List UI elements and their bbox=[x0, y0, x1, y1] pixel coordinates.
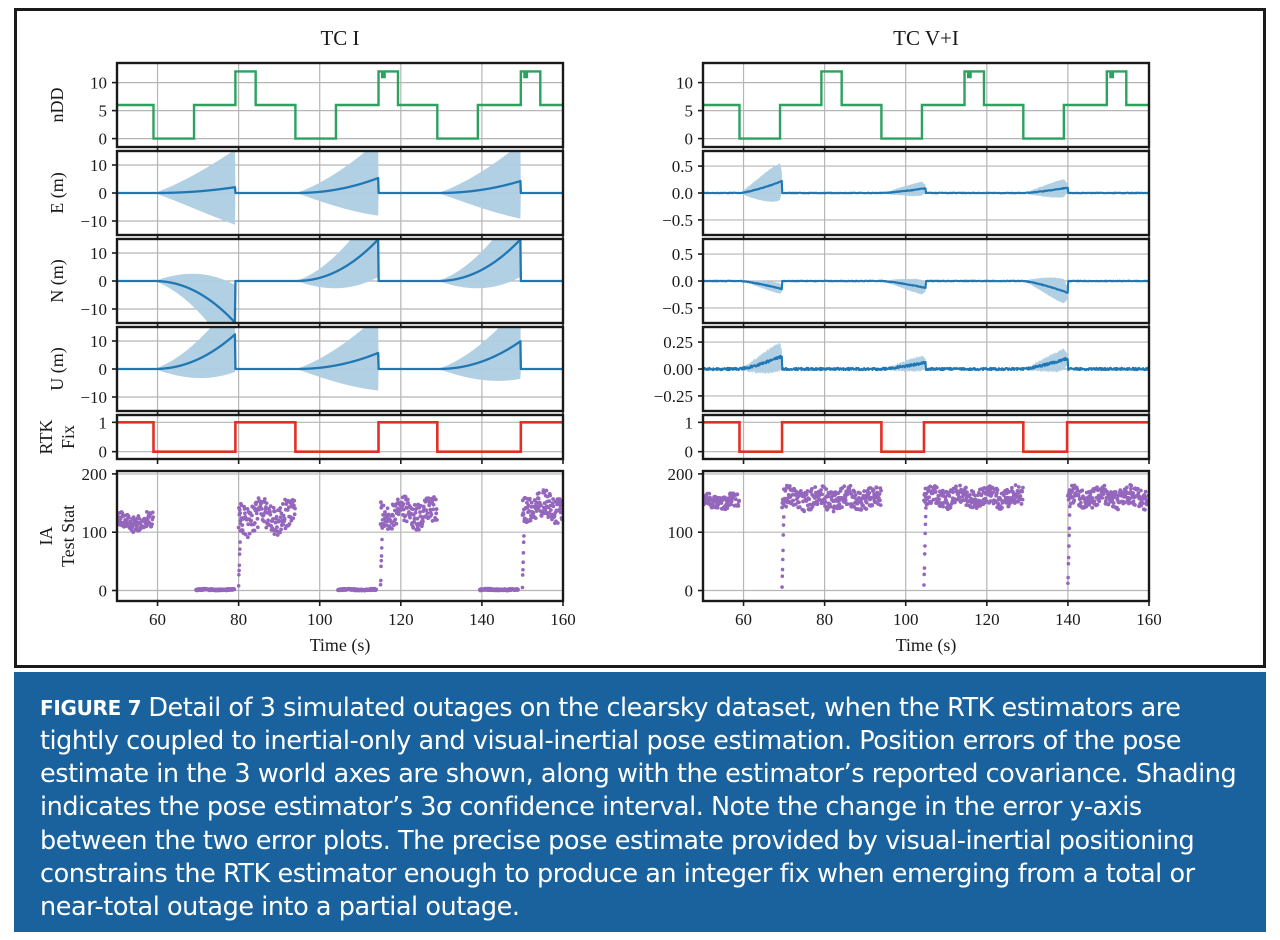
y-tick-label: 0.00 bbox=[663, 360, 693, 379]
scatter-point bbox=[411, 507, 415, 511]
confidence-band-3sigma bbox=[117, 140, 563, 224]
scatter-point bbox=[379, 559, 383, 563]
y-tick-label: 10 bbox=[90, 156, 107, 175]
scatter-point bbox=[396, 498, 400, 502]
scatter-point bbox=[246, 522, 250, 526]
scatter-point bbox=[380, 554, 384, 558]
panel-rtk-tc_i: 01RTKFix bbox=[36, 413, 563, 464]
scatter-point bbox=[558, 507, 562, 511]
scatter-point bbox=[522, 551, 526, 555]
scatter-point bbox=[253, 529, 257, 533]
scatter-point bbox=[275, 515, 279, 519]
panel-content bbox=[701, 483, 1150, 589]
scatter-point bbox=[523, 517, 527, 521]
y-axis-label-line: Test Stat bbox=[58, 505, 78, 567]
scatter-point bbox=[379, 500, 383, 504]
scatter-point bbox=[1010, 486, 1014, 490]
y-tick-label: 1 bbox=[685, 413, 694, 432]
panel-ia-tc_i: 01002006080100120140160Time (s)IATest St… bbox=[36, 465, 576, 656]
scatter-point bbox=[923, 566, 927, 570]
x-tick-label: 160 bbox=[550, 610, 576, 629]
scatter-point bbox=[516, 588, 520, 592]
scatter-point bbox=[272, 506, 276, 510]
y-tick-label: 0 bbox=[99, 360, 108, 379]
y-tick-label: 0 bbox=[99, 184, 108, 203]
scatter-point bbox=[924, 487, 928, 491]
x-tick-label: 120 bbox=[974, 610, 1000, 629]
scatter-point bbox=[735, 492, 739, 496]
scatter-point bbox=[924, 506, 928, 510]
scatter-point bbox=[872, 488, 876, 492]
scatter-point bbox=[1133, 503, 1137, 507]
y-tick-label: −0.25 bbox=[654, 387, 693, 406]
scatter-point bbox=[419, 515, 423, 519]
panel-content bbox=[117, 422, 563, 451]
scatter-point bbox=[265, 501, 269, 505]
y-tick-label: −10 bbox=[80, 388, 107, 407]
scatter-point bbox=[815, 502, 819, 506]
scatter-point bbox=[865, 501, 869, 505]
scatter-point bbox=[782, 523, 786, 527]
scatter-point bbox=[380, 526, 384, 530]
y-tick-label: 0.0 bbox=[672, 272, 693, 291]
scatter-point bbox=[238, 540, 242, 544]
scatter-point bbox=[1067, 544, 1071, 548]
scatter-point bbox=[386, 506, 390, 510]
y-tick-label: 200 bbox=[668, 465, 694, 484]
scatter-point bbox=[288, 522, 292, 526]
scatter-point bbox=[534, 516, 538, 520]
panel-content bbox=[703, 71, 1149, 138]
y-axis-label: nDD bbox=[47, 88, 67, 123]
scatter-point bbox=[418, 510, 422, 514]
scatter-point bbox=[238, 508, 242, 512]
scatter-point bbox=[805, 492, 809, 496]
y-axis-label: E (m) bbox=[47, 172, 68, 213]
figure-caption-band: FIGURE 7Detail of 3 simulated outages on… bbox=[14, 672, 1266, 932]
scatter-point bbox=[954, 485, 958, 489]
scatter-point bbox=[1129, 484, 1133, 488]
panel-ndd-tc_vi: 0510 bbox=[676, 63, 1149, 152]
y-axis-label-line: nDD bbox=[47, 88, 67, 123]
scatter-point bbox=[951, 490, 955, 494]
scatter-point bbox=[250, 514, 254, 518]
x-tick-label: 120 bbox=[388, 610, 414, 629]
scatter-point bbox=[1093, 499, 1097, 503]
confidence-band-3sigma bbox=[703, 163, 1149, 202]
figure-caption-text: Detail of 3 simulated outages on the cle… bbox=[40, 693, 1236, 922]
scatter-point bbox=[922, 573, 926, 577]
scatter-point bbox=[529, 519, 533, 523]
scatter-point bbox=[1090, 506, 1094, 510]
scatter-point bbox=[781, 549, 785, 553]
scatter-point bbox=[1000, 506, 1004, 510]
y-axis-label-line: RTK bbox=[36, 420, 56, 455]
scatter-point bbox=[1021, 486, 1025, 490]
scatter-point bbox=[430, 513, 434, 517]
y-tick-label: 5 bbox=[685, 102, 694, 121]
y-tick-label: 100 bbox=[82, 523, 108, 542]
scatter-point bbox=[807, 497, 811, 501]
scatter-point bbox=[989, 499, 993, 503]
scatter-point bbox=[958, 484, 962, 488]
confidence-band-3sigma bbox=[117, 297, 563, 391]
scatter-point bbox=[879, 503, 883, 507]
scatter-point bbox=[379, 565, 383, 569]
ia-scatter-points bbox=[115, 488, 564, 592]
scatter-point bbox=[381, 518, 385, 522]
scatter-point bbox=[416, 517, 420, 521]
scatter-point bbox=[272, 532, 276, 536]
scatter-point bbox=[1080, 489, 1084, 493]
scatter-point bbox=[249, 519, 253, 523]
figure-number-label: FIGURE 7 bbox=[40, 696, 141, 720]
scatter-point bbox=[737, 499, 741, 503]
panel-content bbox=[117, 140, 563, 224]
scatter-point bbox=[239, 522, 243, 526]
multi-panel-plot: TC ITC V+I0510nDD0510−10010E (m)−0.50.00… bbox=[17, 11, 1263, 665]
scatter-point bbox=[379, 583, 383, 587]
scatter-point bbox=[380, 538, 384, 542]
scatter-point bbox=[238, 511, 242, 515]
scatter-point bbox=[810, 487, 814, 491]
y-tick-label: −0.5 bbox=[662, 299, 693, 318]
scatter-point bbox=[548, 494, 552, 498]
scatter-point bbox=[539, 503, 543, 507]
scatter-point bbox=[237, 584, 241, 588]
scatter-point bbox=[127, 516, 131, 520]
y-tick-label: 0 bbox=[99, 443, 108, 462]
scatter-point bbox=[283, 517, 287, 521]
scatter-point bbox=[1079, 501, 1083, 505]
scatter-point bbox=[238, 552, 242, 556]
scatter-point bbox=[1144, 490, 1148, 494]
scatter-point bbox=[878, 498, 882, 502]
scatter-point bbox=[707, 492, 711, 496]
scatter-point bbox=[1068, 505, 1072, 509]
scatter-point bbox=[435, 518, 439, 522]
scatter-point bbox=[996, 488, 1000, 492]
scatter-point bbox=[1112, 501, 1116, 505]
scatter-point bbox=[781, 574, 785, 578]
scatter-point bbox=[1014, 483, 1018, 487]
panel-u-tc_i: −10010U (m) bbox=[47, 297, 563, 416]
scatter-point bbox=[824, 487, 828, 491]
panel-u-tc_vi: −0.250.000.25 bbox=[654, 327, 1149, 416]
panel-rtk-tc_vi: 01 bbox=[685, 413, 1150, 464]
scatter-point bbox=[1066, 576, 1070, 580]
x-tick-label: 60 bbox=[149, 610, 166, 629]
scatter-point bbox=[238, 563, 242, 567]
panel-n-tc_vi: −0.50.00.5 bbox=[662, 239, 1149, 328]
y-tick-label: 10 bbox=[90, 332, 107, 351]
x-tick-label: 140 bbox=[469, 610, 495, 629]
x-tick-label: 140 bbox=[1055, 610, 1081, 629]
scatter-point bbox=[1018, 494, 1022, 498]
scatter-point bbox=[232, 587, 236, 591]
scatter-point bbox=[870, 504, 874, 508]
y-axis-label: N (m) bbox=[47, 259, 68, 303]
panel-content bbox=[703, 163, 1149, 202]
scatter-point bbox=[263, 497, 267, 501]
y-tick-label: −10 bbox=[80, 300, 107, 319]
scatter-point bbox=[1072, 498, 1076, 502]
scatter-point bbox=[253, 521, 257, 525]
scatter-point bbox=[278, 506, 282, 510]
y-tick-label: 10 bbox=[676, 74, 693, 93]
scatter-point bbox=[237, 569, 241, 573]
scatter-point bbox=[391, 514, 395, 518]
panel-ia-tc_vi: 01002006080100120140160Time (s) bbox=[668, 465, 1162, 656]
scatter-point bbox=[237, 573, 241, 577]
scatter-point bbox=[781, 533, 785, 537]
scatter-point bbox=[1067, 562, 1071, 566]
scatter-point bbox=[521, 586, 525, 590]
scatter-point bbox=[923, 532, 927, 536]
panel-content bbox=[703, 422, 1149, 451]
scatter-point bbox=[393, 517, 397, 521]
scatter-point bbox=[380, 546, 384, 550]
ndd-step-line bbox=[703, 71, 1149, 138]
scatter-point bbox=[522, 540, 526, 544]
y-axis-label: IATest Stat bbox=[36, 505, 78, 567]
y-tick-label: −0.5 bbox=[662, 211, 693, 230]
y-axis-label: U (m) bbox=[47, 347, 68, 391]
y-tick-label: −10 bbox=[80, 212, 107, 231]
scatter-point bbox=[406, 498, 410, 502]
y-tick-label: 1 bbox=[99, 413, 108, 432]
y-tick-label: 10 bbox=[90, 74, 107, 93]
scatter-point bbox=[947, 494, 951, 498]
scatter-point bbox=[782, 515, 786, 519]
scatter-point bbox=[922, 583, 926, 587]
scatter-point bbox=[791, 499, 795, 503]
scatter-point bbox=[151, 511, 155, 515]
scatter-point bbox=[521, 568, 525, 572]
scatter-point bbox=[246, 535, 250, 539]
x-tick-label: 160 bbox=[1136, 610, 1162, 629]
scatter-point bbox=[1020, 502, 1024, 506]
scatter-point bbox=[379, 579, 383, 583]
scatter-point bbox=[849, 484, 853, 488]
scatter-point bbox=[432, 503, 436, 507]
scatter-point bbox=[414, 511, 418, 515]
scatter-point bbox=[151, 515, 155, 519]
scatter-point bbox=[403, 514, 407, 518]
scatter-point bbox=[522, 534, 526, 538]
scatter-point bbox=[239, 529, 243, 533]
scatter-point bbox=[924, 523, 928, 527]
scatter-point bbox=[434, 498, 438, 502]
scatter-point bbox=[260, 507, 264, 511]
y-tick-label: 0 bbox=[99, 582, 108, 601]
scatter-point bbox=[1141, 501, 1145, 505]
y-tick-label: 0.25 bbox=[663, 333, 693, 352]
rtk-fix-step-line bbox=[117, 422, 563, 451]
scatter-point bbox=[1100, 496, 1104, 500]
scatter-point bbox=[854, 493, 858, 497]
scatter-point bbox=[537, 497, 541, 501]
scatter-point bbox=[784, 487, 788, 491]
panel-content bbox=[703, 277, 1149, 303]
x-tick-label: 100 bbox=[307, 610, 333, 629]
panel-e-tc_vi: −0.50.00.5 bbox=[662, 151, 1149, 240]
scatter-point bbox=[435, 507, 439, 511]
scatter-point bbox=[964, 486, 968, 490]
scatter-point bbox=[875, 486, 879, 490]
scatter-point bbox=[537, 491, 541, 495]
scatter-point bbox=[1066, 581, 1070, 585]
y-axis-label-line: N (m) bbox=[47, 259, 68, 303]
scatter-point bbox=[1131, 491, 1135, 495]
scatter-point bbox=[402, 502, 406, 506]
scatter-point bbox=[968, 493, 972, 497]
scatter-point bbox=[853, 490, 857, 494]
rtk-fix-step-line bbox=[703, 422, 1149, 451]
figure-page: TC ITC V+I0510nDD0510−10010E (m)−0.50.00… bbox=[0, 0, 1280, 940]
scatter-point bbox=[1068, 526, 1072, 530]
scatter-point bbox=[941, 505, 945, 509]
scatter-point bbox=[1096, 503, 1100, 507]
scatter-point bbox=[878, 492, 882, 496]
axes-frame bbox=[117, 471, 563, 601]
scatter-point bbox=[937, 497, 941, 501]
scatter-point bbox=[781, 568, 785, 572]
scatter-point bbox=[549, 508, 553, 512]
scatter-point bbox=[780, 585, 784, 589]
x-tick-label: 80 bbox=[816, 610, 833, 629]
scatter-point bbox=[281, 523, 285, 527]
panel-content bbox=[117, 71, 563, 138]
scatter-point bbox=[273, 509, 277, 513]
scatter-point bbox=[1125, 485, 1129, 489]
panel-n-tc_i: −10010N (m) bbox=[47, 202, 563, 360]
scatter-point bbox=[374, 588, 378, 592]
y-tick-label: 5 bbox=[99, 102, 108, 121]
scatter-point bbox=[255, 511, 259, 515]
scatter-point bbox=[395, 522, 399, 526]
x-tick-label: 80 bbox=[230, 610, 247, 629]
scatter-point bbox=[291, 516, 295, 520]
figure-plot-area: TC ITC V+I0510nDD0510−10010E (m)−0.50.00… bbox=[14, 8, 1266, 668]
scatter-point bbox=[431, 507, 435, 511]
scatter-point bbox=[390, 527, 394, 531]
scatter-point bbox=[813, 485, 817, 489]
y-tick-label: 0 bbox=[685, 130, 694, 149]
x-axis-label: Time (s) bbox=[896, 635, 957, 656]
scatter-point bbox=[802, 509, 806, 513]
scatter-point bbox=[292, 499, 296, 503]
panel-e-tc_i: −10010E (m) bbox=[47, 140, 563, 240]
panel-content bbox=[703, 343, 1149, 374]
scatter-point bbox=[275, 525, 279, 529]
scatter-point bbox=[547, 499, 551, 503]
scatter-point bbox=[281, 502, 285, 506]
scatter-point bbox=[736, 504, 740, 508]
scatter-point bbox=[405, 519, 409, 523]
scatter-point bbox=[1077, 494, 1081, 498]
panel-content bbox=[117, 297, 563, 391]
panel-title-tc_vi: TC V+I bbox=[893, 26, 959, 50]
y-tick-label: 10 bbox=[90, 244, 107, 263]
scatter-point bbox=[237, 526, 241, 530]
scatter-point bbox=[824, 500, 828, 504]
scatter-point bbox=[413, 503, 417, 507]
scatter-point bbox=[1097, 499, 1101, 503]
scatter-point bbox=[1091, 496, 1095, 500]
scatter-point bbox=[846, 502, 850, 506]
scatter-point bbox=[238, 547, 242, 551]
scatter-point bbox=[522, 513, 526, 517]
scatter-point bbox=[382, 504, 386, 508]
y-axis-label-line: Fix bbox=[58, 425, 78, 449]
scatter-point bbox=[832, 510, 836, 514]
scatter-point bbox=[532, 511, 536, 515]
scatter-point bbox=[819, 488, 823, 492]
x-tick-label: 100 bbox=[893, 610, 919, 629]
scatter-point bbox=[859, 508, 863, 512]
scatter-point bbox=[864, 507, 868, 511]
scatter-point bbox=[1143, 508, 1147, 512]
scatter-point bbox=[1103, 484, 1107, 488]
y-tick-label: 0 bbox=[99, 272, 108, 291]
scatter-point bbox=[965, 490, 969, 494]
scatter-point bbox=[1067, 556, 1071, 560]
scatter-point bbox=[552, 504, 556, 508]
y-axis-label-line: E (m) bbox=[47, 172, 68, 213]
scatter-point bbox=[545, 489, 549, 493]
y-tick-label: 0 bbox=[685, 443, 694, 462]
scatter-point bbox=[879, 489, 883, 493]
scatter-point bbox=[243, 511, 247, 515]
scatter-point bbox=[829, 505, 833, 509]
scatter-point bbox=[806, 489, 810, 493]
scatter-point bbox=[1116, 508, 1120, 512]
scatter-point bbox=[521, 573, 525, 577]
scatter-point bbox=[781, 558, 785, 562]
scatter-point bbox=[1020, 490, 1024, 494]
scatter-point bbox=[521, 560, 525, 564]
scatter-point bbox=[421, 520, 425, 524]
scatter-point bbox=[797, 500, 801, 504]
scatter-point bbox=[150, 522, 154, 526]
y-axis-label-line: IA bbox=[36, 527, 56, 546]
scatter-point bbox=[256, 517, 260, 521]
y-tick-label: 0.0 bbox=[672, 184, 693, 203]
scatter-point bbox=[556, 521, 560, 525]
y-axis-label-line: U (m) bbox=[47, 347, 68, 391]
ndd-step-line bbox=[117, 71, 563, 138]
scatter-point bbox=[935, 486, 939, 490]
y-tick-label: 100 bbox=[668, 523, 694, 542]
scatter-point bbox=[528, 497, 532, 501]
scatter-point bbox=[923, 544, 927, 548]
scatter-point bbox=[716, 506, 720, 510]
scatter-point bbox=[1068, 513, 1072, 517]
x-axis-label: Time (s) bbox=[310, 635, 371, 656]
scatter-point bbox=[248, 532, 252, 536]
scatter-point bbox=[256, 525, 260, 529]
scatter-point bbox=[924, 515, 928, 519]
y-tick-label: 0 bbox=[99, 130, 108, 149]
y-axis-label: RTKFix bbox=[36, 420, 78, 455]
scatter-point bbox=[842, 484, 846, 488]
panel-content bbox=[115, 488, 564, 592]
scatter-point bbox=[820, 493, 824, 497]
y-tick-label: 0.5 bbox=[672, 245, 693, 264]
y-tick-label: 0.5 bbox=[672, 157, 693, 176]
scatter-point bbox=[417, 528, 421, 532]
